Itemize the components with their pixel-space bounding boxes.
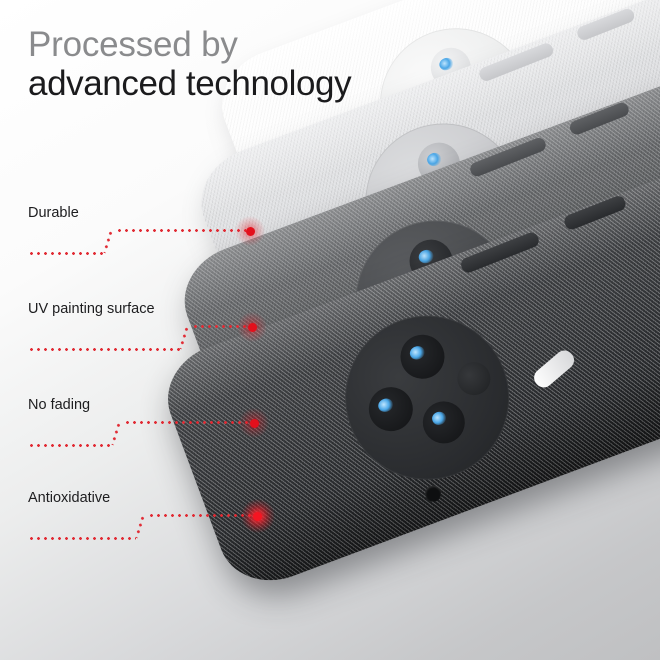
camera-lens: [394, 328, 451, 385]
callout-label: No fading: [28, 397, 90, 413]
callout-end-dot: [253, 512, 262, 521]
product-marketing-image: Processed by advanced technology: [0, 0, 660, 660]
callout-label: Antioxidative: [28, 490, 110, 506]
callout-end-dot: [246, 227, 255, 236]
callout-diagonal: [135, 515, 145, 539]
callout-diagonal: [103, 230, 113, 254]
lens-glint: [408, 344, 427, 362]
callout-leader-line: [148, 514, 252, 517]
camera-sensor: [453, 357, 495, 399]
callout-leader-line: [124, 421, 250, 424]
headline-block: Processed by advanced technology: [28, 26, 351, 102]
lens-glint: [377, 396, 396, 414]
callout-diagonal: [111, 422, 121, 446]
callout-diagonal: [179, 326, 189, 350]
callout-underline: [28, 444, 112, 447]
callout-end-dot: [248, 323, 257, 332]
callout-underline: [28, 537, 136, 540]
camera-lens: [363, 381, 420, 438]
lens-glint: [438, 56, 455, 72]
callout-label: Durable: [28, 205, 79, 221]
callout-end-dot: [250, 419, 259, 428]
callout-leader-line: [116, 229, 246, 232]
camera-lens: [417, 395, 471, 449]
lens-glint: [430, 410, 448, 427]
headline-line-1: Processed by: [28, 26, 351, 63]
headline-line-2: advanced technology: [28, 65, 351, 102]
callout-underline: [28, 252, 104, 255]
callout-underline: [28, 348, 180, 351]
callout-label: UV painting surface: [28, 301, 155, 317]
lens-glint: [425, 151, 443, 168]
